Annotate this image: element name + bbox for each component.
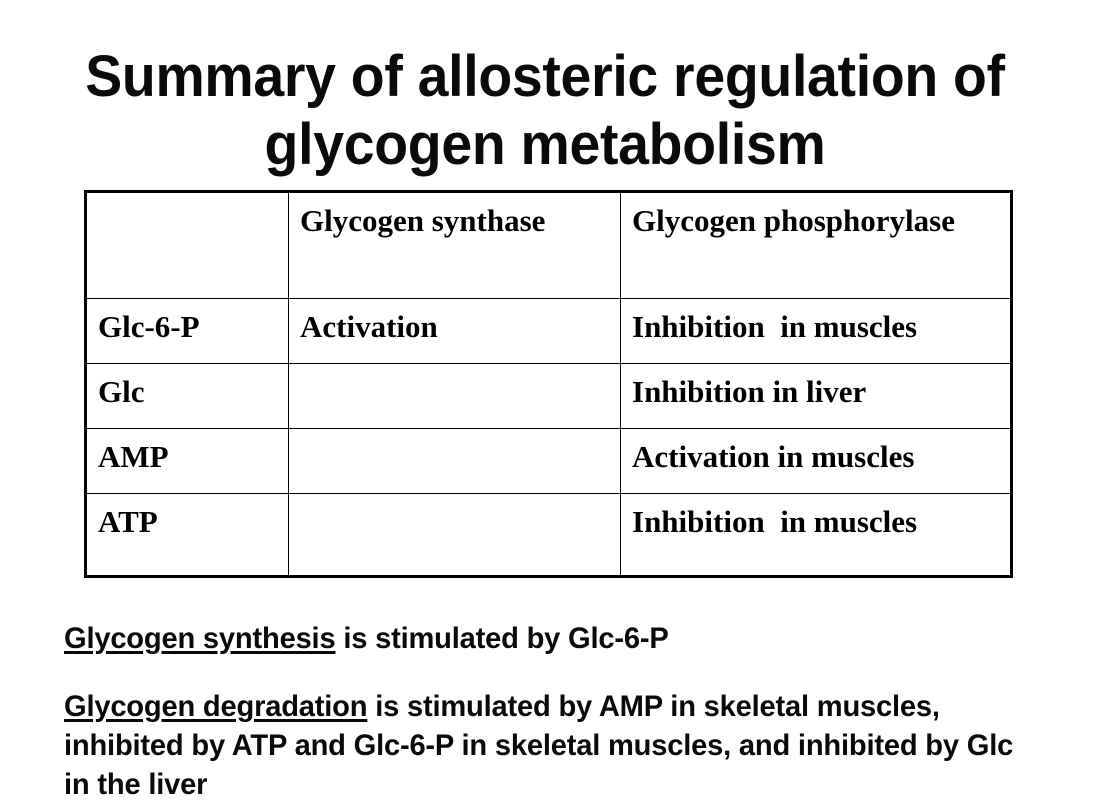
table-header-glycogen-phosphorylase: Glycogen phosphorylase bbox=[621, 192, 1012, 299]
cell-glycogen-synthase: Activation bbox=[289, 299, 621, 364]
cell-effector: ATP bbox=[86, 494, 289, 577]
table-header-row: Glycogen synthase Glycogen phosphorylase bbox=[86, 192, 1012, 299]
page-title: Summary of allosteric regulation of glyc… bbox=[25, 43, 1066, 179]
summary-lead-synthesis: Glycogen synthesis bbox=[64, 622, 335, 655]
cell-glycogen-phosphorylase: Inhibition in liver bbox=[621, 364, 1012, 429]
summary-paragraph-degradation: Glycogen degradation is stimulated by AM… bbox=[64, 687, 1015, 804]
table-header-glycogen-synthase: Glycogen synthase bbox=[289, 192, 621, 299]
table-row: AMP Activation in muscles bbox=[86, 429, 1012, 494]
table-row: Glc-6-P Activation Inhibition in muscles bbox=[86, 299, 1012, 364]
cell-effector: AMP bbox=[86, 429, 289, 494]
cell-glycogen-phosphorylase: Inhibition in muscles bbox=[621, 494, 1012, 577]
table-row: Glc Inhibition in liver bbox=[86, 364, 1012, 429]
cell-glycogen-phosphorylase: Activation in muscles bbox=[621, 429, 1012, 494]
allosteric-regulation-table: Glycogen synthase Glycogen phosphorylase… bbox=[84, 190, 1013, 578]
slide-canvas: Summary of allosteric regulation of glyc… bbox=[0, 0, 1100, 802]
summary-lead-degradation: Glycogen degradation bbox=[64, 690, 367, 723]
table-row: ATP Inhibition in muscles bbox=[86, 494, 1012, 577]
table-header-effector bbox=[86, 192, 289, 299]
summary-paragraph-synthesis: Glycogen synthesis is stimulated by Glc-… bbox=[64, 619, 1015, 658]
cell-glycogen-synthase bbox=[289, 364, 621, 429]
cell-effector: Glc bbox=[86, 364, 289, 429]
cell-effector: Glc-6-P bbox=[86, 299, 289, 364]
cell-glycogen-phosphorylase: Inhibition in muscles bbox=[621, 299, 1012, 364]
cell-glycogen-synthase bbox=[289, 429, 621, 494]
cell-glycogen-synthase bbox=[289, 494, 621, 577]
summary-text-synthesis: is stimulated by Glc-6-P bbox=[335, 622, 668, 655]
